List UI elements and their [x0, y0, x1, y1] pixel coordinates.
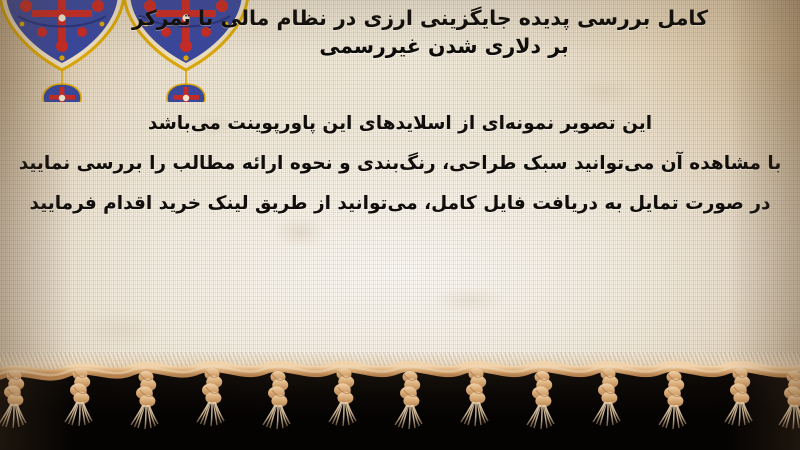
slide-title: کامل بررسی پدیده جایگزینی ارزی در نظام م… — [114, 4, 774, 60]
carpet-black-band — [0, 370, 800, 450]
slide-body: این تصویر نمونه‌ای از اسلایدهای این پاور… — [0, 104, 800, 224]
slide-body-line-1: این تصویر نمونه‌ای از اسلایدهای این پاور… — [0, 104, 800, 144]
slide-title-line-2: بر دلاری شدن غیررسمی — [114, 32, 774, 60]
slide-body-line-2: با مشاهده آن می‌توانید سبک طراحی، رنگ‌بن… — [0, 144, 800, 184]
presentation-slide: کامل بررسی پدیده جایگزینی ارزی در نظام م… — [0, 0, 800, 450]
slide-body-line-3: در صورت تمایل به دریافت فایل کامل، می‌تو… — [0, 184, 800, 224]
slide-title-line-1: کامل بررسی پدیده جایگزینی ارزی در نظام م… — [114, 4, 774, 32]
